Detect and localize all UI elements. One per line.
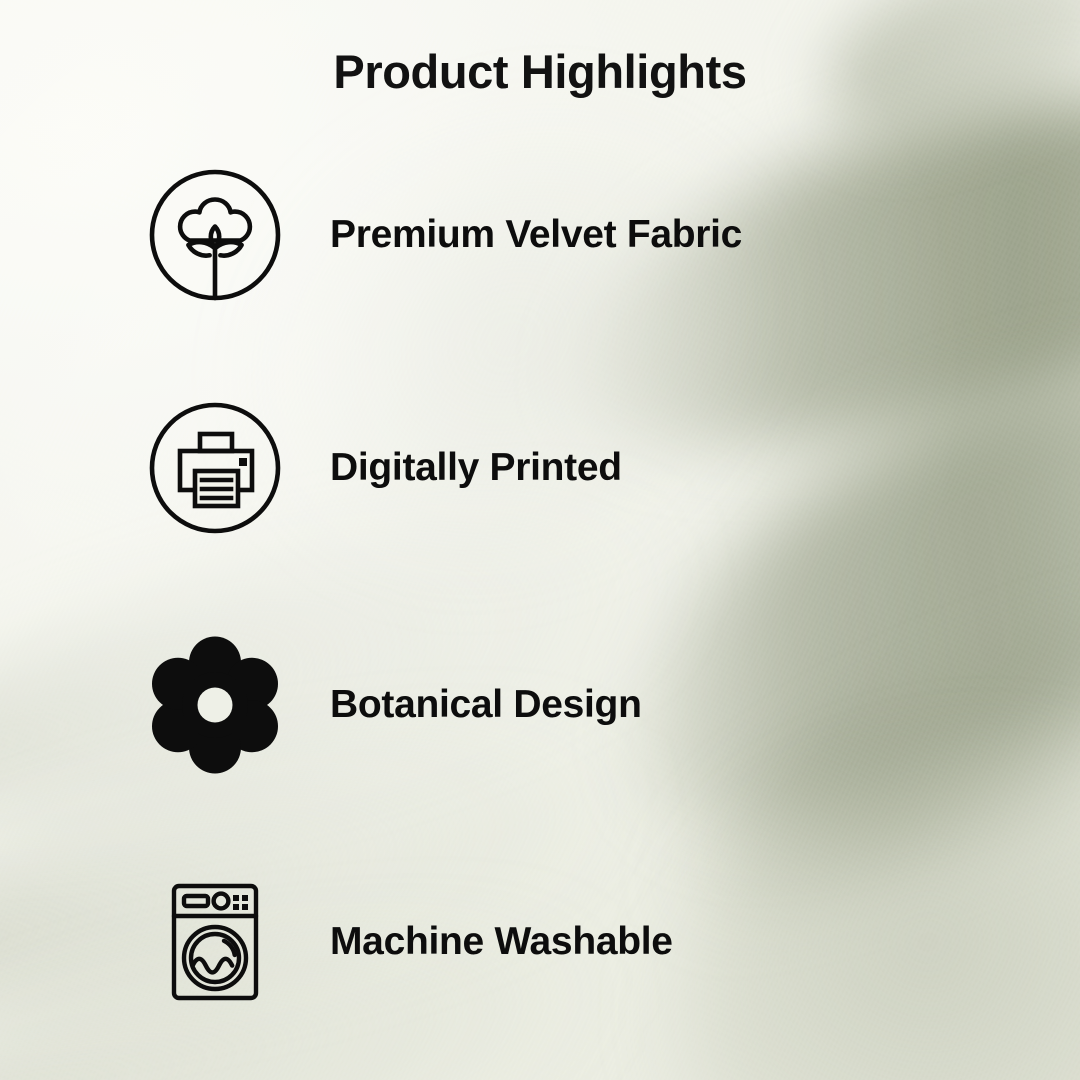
list-item: Botanical Design (0, 630, 1080, 780)
list-item-label: Botanical Design (330, 684, 642, 727)
cotton-boll-icon (140, 160, 290, 310)
list-item: Digitally Printed (0, 393, 1080, 543)
list-item: Premium Velvet Fabric (0, 160, 1080, 310)
list-item-label: Digitally Printed (330, 447, 622, 490)
list-item-label: Premium Velvet Fabric (330, 214, 742, 257)
printer-icon (140, 393, 290, 543)
washing-machine-icon (140, 867, 290, 1017)
feature-list: Premium Velvet Fabric Digi (0, 0, 1080, 1080)
list-item: Machine Washable (0, 867, 1080, 1017)
product-highlights-graphic: Product Highlights Premium Velvet Fabric (0, 0, 1080, 1080)
content-container: Product Highlights Premium Velvet Fabric (0, 0, 1080, 1080)
list-item-label: Machine Washable (330, 921, 673, 964)
flower-icon (140, 630, 290, 780)
